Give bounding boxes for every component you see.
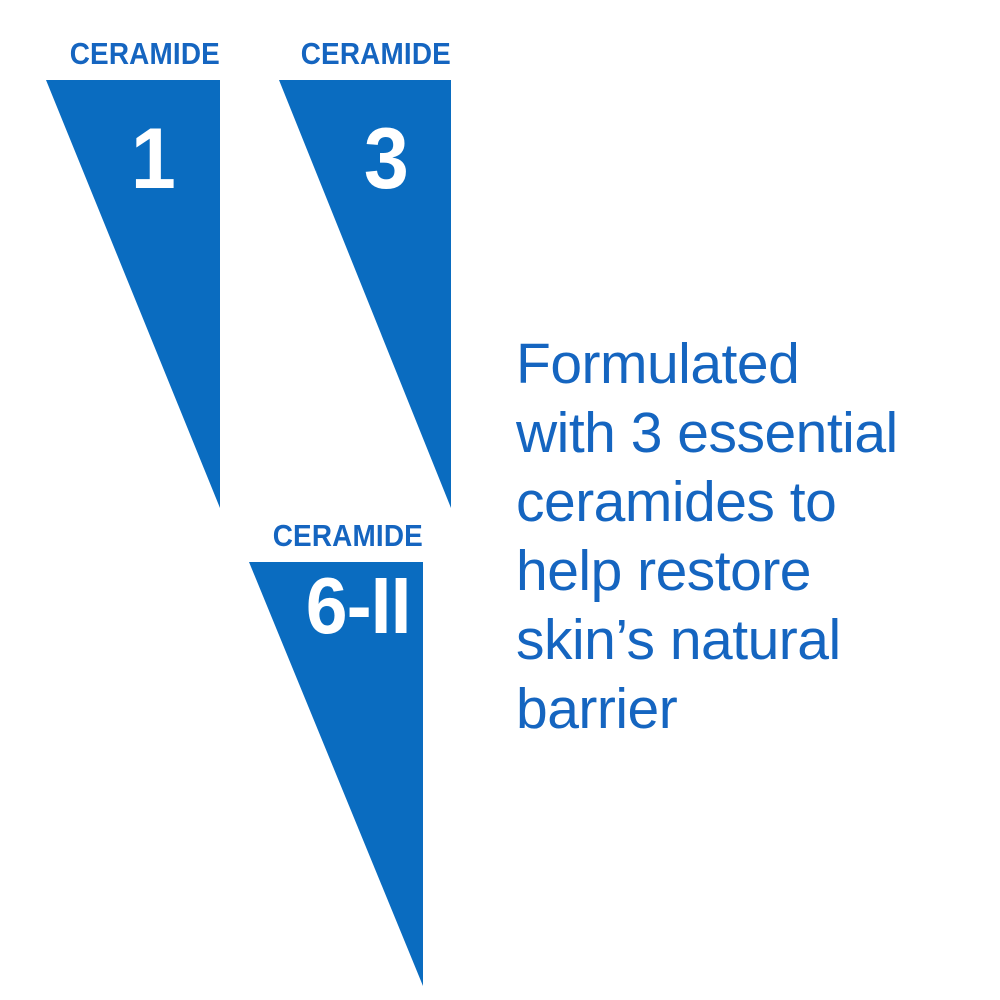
- ceramide-number-3: 6-II: [306, 566, 411, 646]
- ceramide-pennant-2: CERAMIDE 3: [279, 38, 451, 508]
- ceramide-label-1: CERAMIDE: [70, 38, 220, 69]
- infographic-canvas: CERAMIDE 1 CERAMIDE 3 CERAMIDE 6-II Form…: [0, 0, 1000, 1000]
- ceramide-pennant-3: CERAMIDE 6-II: [249, 520, 423, 986]
- ceramide-number-1: 1: [131, 116, 176, 202]
- ceramide-number-2: 3: [364, 116, 409, 202]
- ceramide-label-3: CERAMIDE: [273, 520, 423, 551]
- ceramide-label-2: CERAMIDE: [301, 38, 451, 69]
- product-claim-text: Formulated with 3 essential ceramides to…: [516, 330, 966, 744]
- ceramide-pennant-1: CERAMIDE 1: [46, 38, 220, 508]
